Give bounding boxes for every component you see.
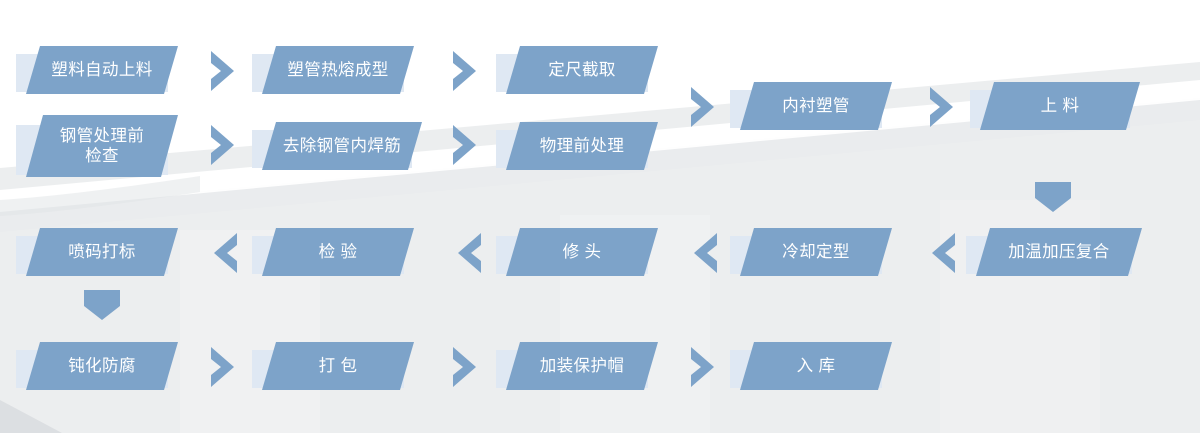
node-shape: 修 头 bbox=[506, 228, 658, 276]
node-label: 喷码打标 bbox=[68, 242, 136, 262]
node-label: 打 包 bbox=[319, 356, 358, 376]
chevron-right-icon bbox=[448, 48, 482, 94]
node-label: 内衬塑管 bbox=[782, 96, 850, 116]
process-node-n11[interactable]: 修 头 bbox=[506, 228, 658, 276]
node-shape: 入 库 bbox=[740, 342, 892, 390]
process-node-n17[interactable]: 入 库 bbox=[740, 342, 892, 390]
node-shape: 检 验 bbox=[262, 228, 414, 276]
process-node-n10[interactable]: 冷却定型 bbox=[740, 228, 892, 276]
arrow-down-icon bbox=[82, 288, 122, 322]
node-shape: 钝化防腐 bbox=[26, 342, 178, 390]
node-label: 检 验 bbox=[319, 242, 358, 262]
node-shape: 物理前处理 bbox=[506, 122, 658, 170]
node-shape: 上 料 bbox=[980, 82, 1140, 130]
process-node-n12[interactable]: 检 验 bbox=[262, 228, 414, 276]
process-node-n3[interactable]: 定尺截取 bbox=[506, 46, 658, 94]
process-node-n13[interactable]: 喷码打标 bbox=[26, 228, 178, 276]
chevron-right-icon bbox=[448, 122, 482, 168]
node-shape: 内衬塑管 bbox=[740, 82, 892, 130]
node-label: 塑料自动上料 bbox=[51, 60, 152, 80]
node-label: 加温加压复合 bbox=[1008, 242, 1109, 262]
node-label: 钝化防腐 bbox=[68, 356, 136, 376]
chevron-left-icon bbox=[452, 230, 486, 276]
node-shape: 加装保护帽 bbox=[506, 342, 658, 390]
process-node-n1[interactable]: 塑料自动上料 bbox=[26, 46, 178, 94]
node-label: 上 料 bbox=[1041, 96, 1080, 116]
node-shape: 去除钢管内焊筋 bbox=[262, 122, 422, 170]
chevron-right-icon bbox=[686, 344, 720, 390]
process-node-n4[interactable]: 钢管处理前 检查 bbox=[26, 115, 178, 177]
process-node-n8[interactable]: 上 料 bbox=[980, 82, 1140, 130]
chevron-right-icon bbox=[686, 84, 720, 130]
node-shape: 冷却定型 bbox=[740, 228, 892, 276]
chevron-left-icon bbox=[926, 230, 960, 276]
chevron-right-icon bbox=[206, 122, 240, 168]
node-label: 去除钢管内焊筋 bbox=[283, 136, 401, 156]
node-shape: 喷码打标 bbox=[26, 228, 178, 276]
process-node-n15[interactable]: 打 包 bbox=[262, 342, 414, 390]
node-label: 塑管热熔成型 bbox=[287, 60, 388, 80]
flowchart-canvas: 塑料自动上料 塑管热熔成型 定尺截取 钢管处理前 检查 去除钢管内焊筋 bbox=[0, 0, 1200, 433]
chevron-left-icon bbox=[688, 230, 722, 276]
chevron-right-icon bbox=[206, 344, 240, 390]
node-shape: 塑料自动上料 bbox=[26, 46, 178, 94]
process-node-n14[interactable]: 钝化防腐 bbox=[26, 342, 178, 390]
node-label: 修 头 bbox=[563, 242, 602, 262]
chevron-right-icon bbox=[206, 48, 240, 94]
node-label: 定尺截取 bbox=[548, 60, 616, 80]
node-label: 钢管处理前 检查 bbox=[60, 126, 145, 166]
node-shape: 定尺截取 bbox=[506, 46, 658, 94]
process-node-n2[interactable]: 塑管热熔成型 bbox=[262, 46, 414, 94]
arrow-down-icon bbox=[1033, 180, 1073, 214]
process-node-n9[interactable]: 加温加压复合 bbox=[976, 228, 1142, 276]
node-label: 物理前处理 bbox=[540, 136, 625, 156]
node-label: 加装保护帽 bbox=[540, 356, 625, 376]
chevron-left-icon bbox=[208, 230, 242, 276]
node-label: 冷却定型 bbox=[782, 242, 850, 262]
process-node-n6[interactable]: 物理前处理 bbox=[506, 122, 658, 170]
node-shape: 打 包 bbox=[262, 342, 414, 390]
node-shape: 加温加压复合 bbox=[976, 228, 1142, 276]
chevron-right-icon bbox=[925, 84, 959, 130]
process-node-n5[interactable]: 去除钢管内焊筋 bbox=[262, 122, 422, 170]
process-node-n16[interactable]: 加装保护帽 bbox=[506, 342, 658, 390]
node-shape: 塑管热熔成型 bbox=[262, 46, 414, 94]
chevron-right-icon bbox=[448, 344, 482, 390]
process-node-n7[interactable]: 内衬塑管 bbox=[740, 82, 892, 130]
node-label: 入 库 bbox=[797, 356, 836, 376]
node-shape: 钢管处理前 检查 bbox=[26, 115, 178, 177]
